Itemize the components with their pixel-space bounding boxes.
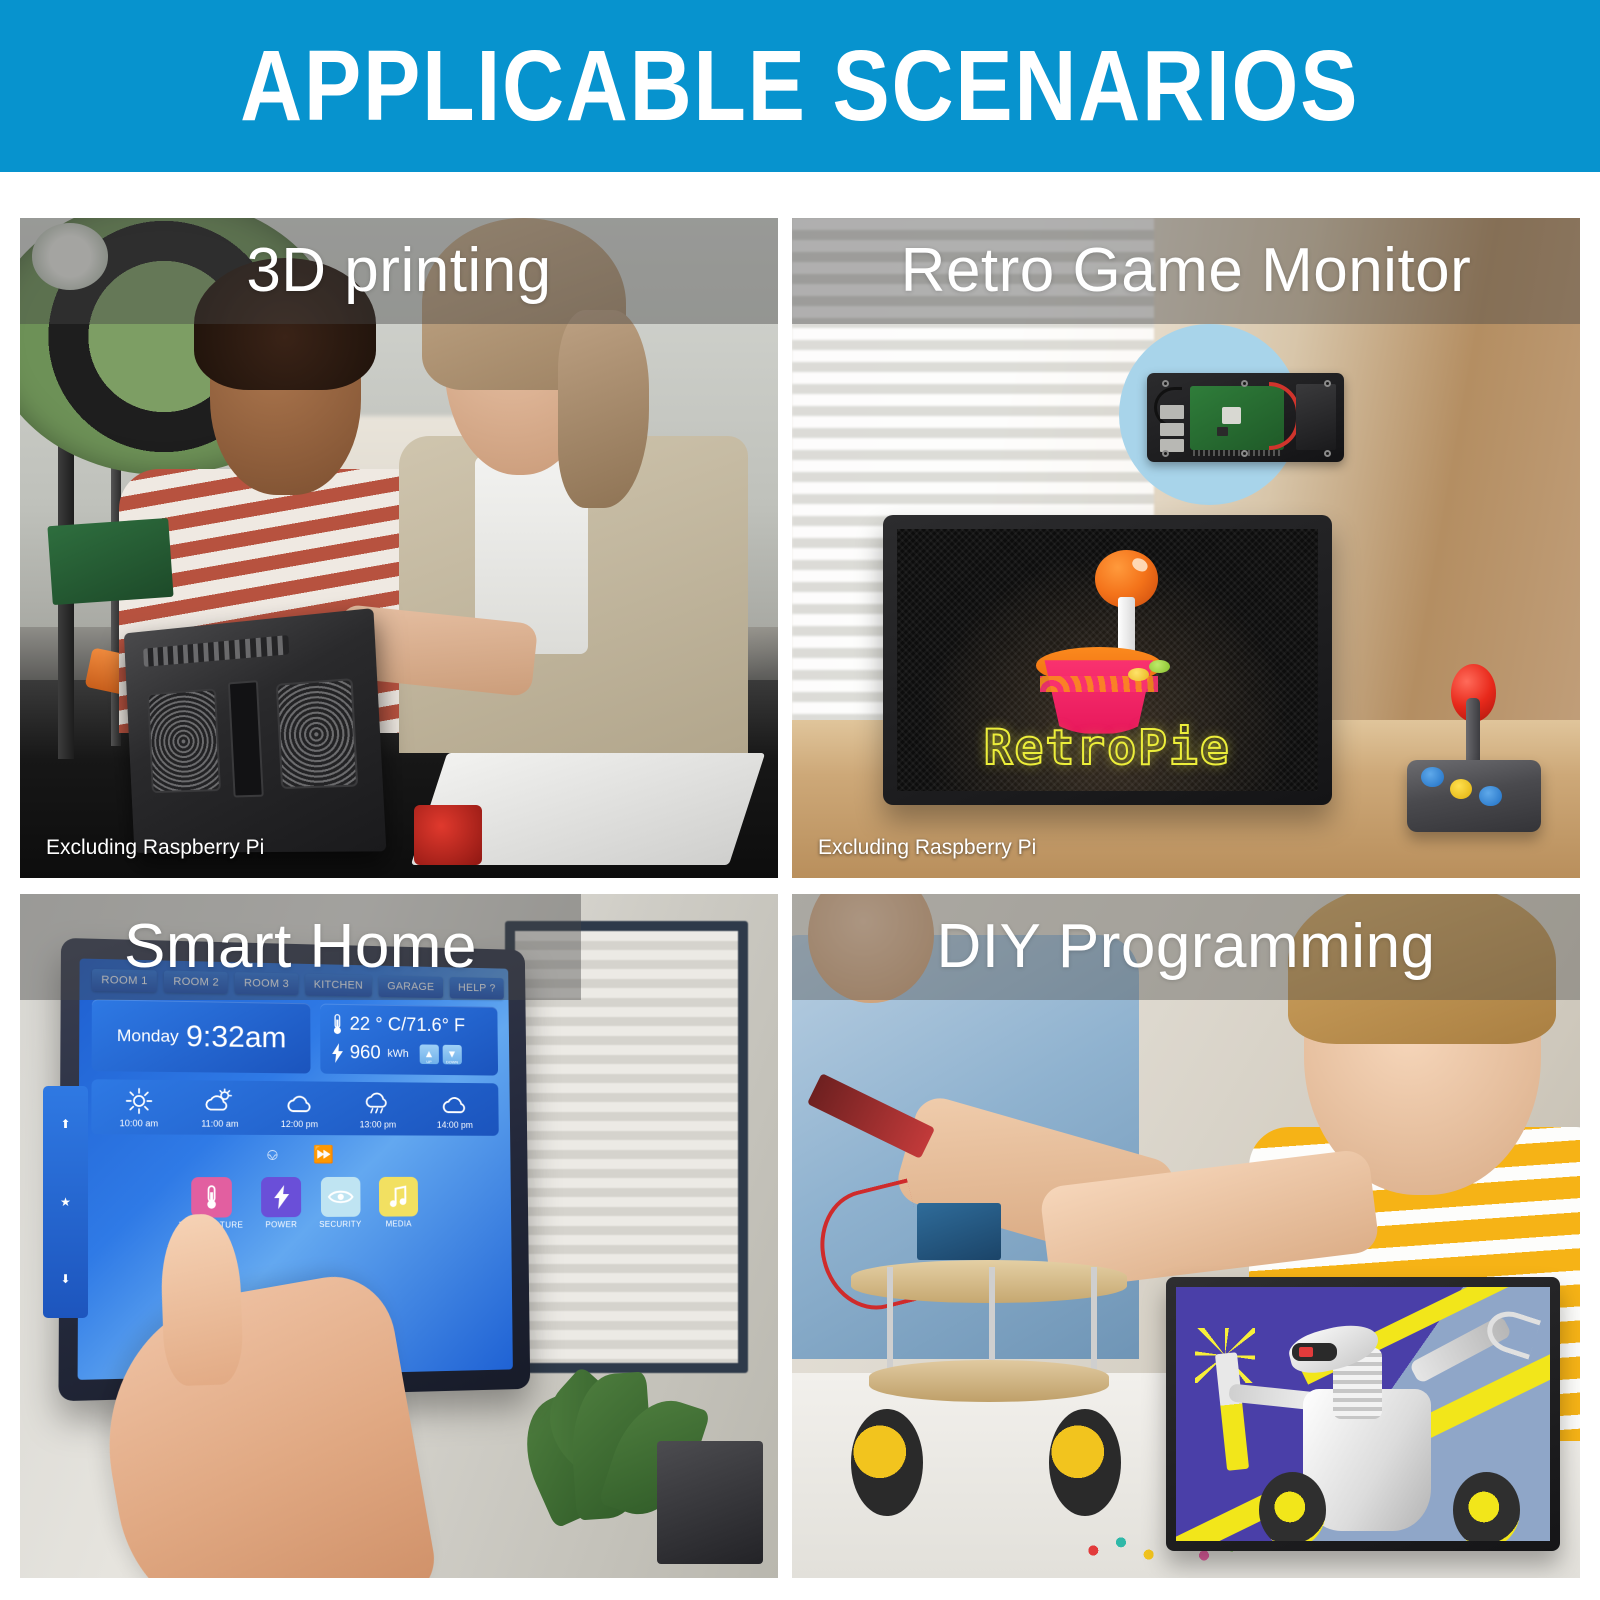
app-tile-power[interactable] (262, 1177, 302, 1217)
case-screw (1241, 450, 1248, 457)
forecast-time: 10:00 am (120, 1118, 159, 1128)
arrow-down-icon[interactable]: ⬇ (60, 1272, 70, 1286)
screen-side-nav[interactable]: ⬆ ★ ⬇ (43, 1086, 88, 1319)
joystick-button-blue-right (1479, 786, 1502, 807)
cooling-fan-left (147, 688, 221, 793)
star-icon[interactable]: ★ (60, 1195, 71, 1209)
speaker (657, 1441, 763, 1564)
app-tile-security[interactable] (321, 1177, 361, 1217)
monitor-screen-robot-illustration (1176, 1287, 1550, 1541)
monitor-screen-retropie: RetroPie (897, 529, 1318, 791)
case-screw (1162, 380, 1169, 387)
scenario-title-band: Retro Game Monitor (792, 218, 1580, 324)
forecast-time: 13:00 pm (360, 1119, 397, 1129)
woman-hair-side (558, 310, 649, 508)
retropie-wordmark: RetroPie (984, 720, 1231, 776)
case-screw (1324, 450, 1331, 457)
arrow-up-icon[interactable]: ⬆ (60, 1117, 70, 1131)
page-title: APPLICABLE SCENARIOS (240, 36, 1359, 136)
robot-wheel-left (851, 1409, 923, 1516)
app-power[interactable]: POWER (262, 1177, 302, 1229)
stepper-down-button[interactable]: ▼ DOWN (443, 1045, 462, 1065)
bolt-icon (274, 1184, 289, 1210)
app-label-power: POWER (266, 1220, 298, 1229)
usb-port-2 (1160, 423, 1184, 436)
clock-day: Monday (117, 1025, 179, 1046)
power-value: 960 (350, 1042, 381, 1064)
clock-card: Monday 9:32am (92, 999, 311, 1073)
forecast-item[interactable]: 12:00 pm (281, 1089, 318, 1129)
status-row: Monday 9:32am 22 ° C/71.6° F (92, 999, 498, 1075)
forecast-time: 14:00 pm (437, 1120, 473, 1130)
app-label-media: MEDIA (386, 1219, 412, 1228)
scenario-title: DIY Programming (936, 916, 1435, 978)
scenario-title: Smart Home (124, 916, 477, 978)
temperature-value: 22 ° C/71.6° F (350, 1014, 466, 1037)
bolt-icon (333, 1043, 344, 1063)
scenario-card-smart-home[interactable]: ROOM 1 ROOM 2 ROOM 3 KITCHEN GARAGE HELP… (20, 894, 778, 1578)
forecast-item[interactable]: 11:00 am (202, 1088, 239, 1128)
power-unit: kWh (388, 1048, 409, 1060)
scenario-card-retro-game-monitor[interactable]: RetroPie Retro Game Monitor Excluding Ra… (792, 218, 1580, 878)
stepper-control[interactable]: ▲ UP ▼ DOWN (420, 1044, 462, 1064)
forecast-card: 10:00 am 11:00 am (92, 1079, 499, 1136)
gpio-header (1190, 450, 1281, 456)
soc-chip (1222, 407, 1241, 424)
robot-wheel-rear (1453, 1472, 1520, 1540)
robot-car-kit (839, 1168, 1138, 1524)
robot-eye-panel (1292, 1343, 1337, 1361)
power-reading: 960 kWh ▲ UP ▼ DOWN (333, 1042, 488, 1066)
scenario-card-diy-programming[interactable]: DIY Programming (792, 894, 1580, 1578)
temperature-reading: 22 ° C/71.6° F (332, 1013, 486, 1037)
forecast-time: 11:00 am (202, 1118, 239, 1128)
excluding-raspberry-pi-caption: Excluding Raspberry Pi (46, 836, 264, 860)
scenario-title: Retro Game Monitor (901, 240, 1472, 302)
transport-controls[interactable]: ⎉ ⏩ (92, 1142, 500, 1167)
arcade-button-green-icon (1149, 660, 1170, 673)
forecast-item[interactable]: 10:00 am (120, 1088, 159, 1129)
portable-monitor-diy (1166, 1277, 1560, 1551)
eye-icon (328, 1188, 354, 1206)
raspberry-pi-inset (1147, 373, 1344, 462)
thermometer-icon (332, 1013, 343, 1035)
sun-icon (126, 1088, 153, 1115)
red-object (414, 805, 482, 864)
chassis-lower-deck (869, 1360, 1109, 1403)
circuit-board (48, 517, 174, 604)
app-shortcut-row[interactable]: TEMPERATURE POWER (91, 1175, 500, 1231)
center-slot (227, 680, 263, 797)
scenario-title-band: 3D printing (20, 218, 778, 324)
forecast-item[interactable]: 13:00 pm (360, 1090, 397, 1130)
portable-monitor-retro: RetroPie (883, 515, 1332, 805)
memory-chip (1217, 427, 1227, 436)
arcade-joystick (1407, 660, 1541, 832)
forecast-item[interactable]: 14:00 pm (437, 1090, 473, 1129)
readings-card: 22 ° C/71.6° F 960 kWh ▲ UP (321, 1003, 499, 1075)
excluding-raspberry-pi-caption: Excluding Raspberry Pi (818, 836, 1036, 860)
driver-board (1296, 384, 1335, 450)
app-label-security: SECURITY (320, 1220, 362, 1229)
clock-time: 9:32am (186, 1019, 287, 1054)
pause-icon[interactable]: ⎉ (266, 1145, 280, 1165)
sun-cloud-icon (206, 1088, 234, 1114)
scenario-title-band: Smart Home (20, 894, 581, 1000)
robot-wheel-front (1259, 1472, 1326, 1540)
cooling-fan-right (275, 677, 357, 788)
header-banner: APPLICABLE SCENARIOS (0, 0, 1600, 172)
stepper-up-button[interactable]: ▲ UP (420, 1044, 439, 1064)
stepper-up-label: UP (427, 1059, 432, 1064)
app-tile-media[interactable] (379, 1177, 418, 1217)
robot-wheel-right (1049, 1409, 1121, 1516)
usb-port-1 (1160, 405, 1184, 418)
app-tile-temperature[interactable] (191, 1177, 232, 1218)
rain-cloud-icon (364, 1090, 391, 1116)
standoff-post (1091, 1267, 1097, 1381)
cloud-icon (286, 1089, 314, 1115)
fast-forward-icon[interactable]: ⏩ (313, 1145, 334, 1165)
scenario-grid: 3D printing Excluding Raspberry Pi (0, 172, 1600, 1600)
stepper-down-label: DOWN (446, 1059, 458, 1064)
forecast-time: 12:00 pm (281, 1119, 318, 1129)
scenario-title-band: DIY Programming (792, 894, 1580, 1000)
app-media[interactable]: MEDIA (379, 1177, 418, 1229)
portable-monitor-rear (123, 608, 385, 853)
scenario-title: 3D printing (246, 240, 551, 302)
scenario-card-3d-printing[interactable]: 3D printing Excluding Raspberry Pi (20, 218, 778, 878)
music-note-icon (389, 1185, 409, 1209)
thermometer-icon (204, 1184, 218, 1210)
app-security[interactable]: SECURITY (319, 1177, 362, 1229)
vent-grille (142, 635, 289, 666)
controller-board (917, 1203, 1001, 1260)
case-screw (1162, 450, 1169, 457)
cloud-icon (442, 1090, 469, 1116)
standoff-post (887, 1267, 893, 1381)
robot-claw (1482, 1306, 1541, 1360)
